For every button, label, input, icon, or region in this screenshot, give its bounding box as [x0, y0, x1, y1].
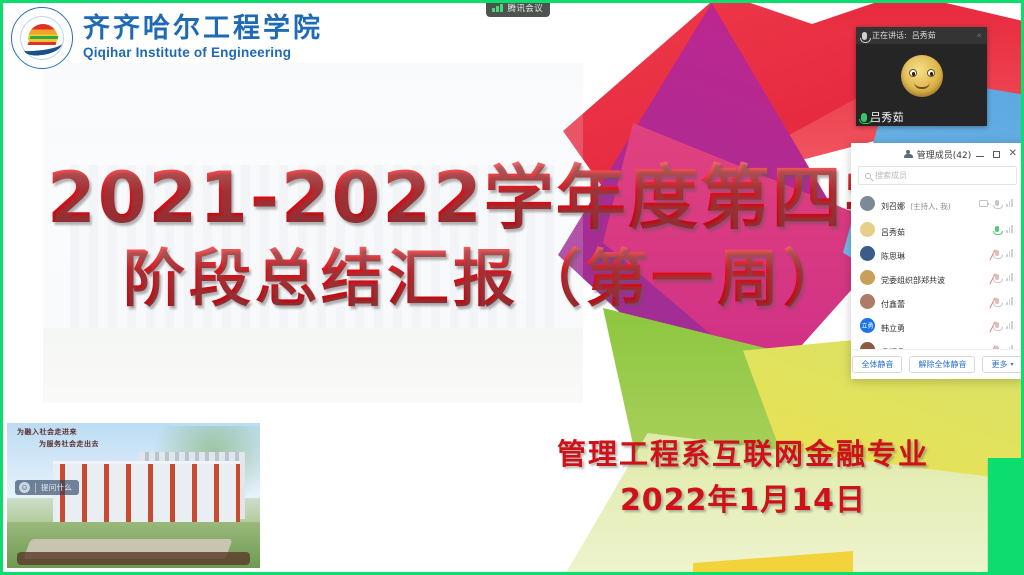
volume-icon: [1006, 273, 1016, 281]
speaking-prefix-label: 正在讲话:: [872, 30, 907, 41]
avatar: [860, 270, 875, 285]
participant-name: 党委组织部郑共波: [881, 276, 945, 285]
chevron-double-icon[interactable]: «: [976, 31, 981, 41]
institution-name-cn: 齐齐哈尔工程学院: [83, 14, 323, 44]
more-button[interactable]: 更多 ▾: [982, 356, 1022, 373]
university-seal-icon: [11, 7, 73, 69]
list-item[interactable]: 立勇 韩立勇: [851, 313, 1024, 337]
microphone-muted-icon[interactable]: [995, 346, 999, 349]
active-speaker-thumbnail[interactable]: 正在讲话: 吕秀茹 « 吕秀茹: [856, 27, 987, 126]
close-icon[interactable]: ✕: [1009, 149, 1017, 159]
slide-subtitle-date: 2022年1月14日: [483, 475, 1003, 519]
volume-icon: [1006, 297, 1016, 305]
active-speaker-header: 正在讲话: 吕秀茹 «: [856, 27, 987, 44]
volume-icon: [1006, 225, 1016, 233]
list-item[interactable]: 党委组织部郑共波: [851, 265, 1024, 289]
list-item[interactable]: 陈思琳: [851, 241, 1024, 265]
campus-badge-label: 提问什么: [41, 482, 72, 493]
participants-list[interactable]: 刘召娜 (主持人, 我) 吕秀茹: [851, 189, 1024, 349]
list-item[interactable]: 付鑫蕾: [851, 289, 1024, 313]
smiley-icon: ☺: [19, 482, 30, 493]
people-icon: [904, 150, 913, 158]
meeting-toolbar-pill[interactable]: 腾讯会议: [486, 0, 550, 17]
search-input[interactable]: 搜索成员: [858, 166, 1017, 185]
screen-share-stage: 齐齐哈尔工程学院 Qiqihar Institute of Engineerin…: [0, 0, 1024, 575]
maximize-icon[interactable]: [993, 151, 1000, 158]
participant-name: 韩立勇: [881, 324, 905, 333]
minimize-icon[interactable]: [976, 156, 984, 157]
institution-logo: 齐齐哈尔工程学院 Qiqihar Institute of Engineerin…: [11, 7, 323, 69]
microphone-on-icon: [861, 113, 867, 122]
microphone-muted-icon[interactable]: [995, 298, 999, 304]
camera-icon[interactable]: [979, 200, 988, 207]
microphone-on-icon[interactable]: [995, 226, 999, 232]
volume-icon: [1006, 249, 1016, 257]
list-item[interactable]: 吕秀茹: [851, 217, 1024, 241]
search-placeholder: 搜索成员: [875, 170, 907, 181]
search-icon: [865, 173, 871, 179]
participant-role: (主持人, 我): [910, 202, 951, 211]
microphone-muted-icon[interactable]: [995, 274, 999, 280]
avatar: [860, 246, 875, 261]
microphone-muted-icon[interactable]: [995, 322, 999, 328]
volume-icon: [1006, 321, 1016, 329]
avatar: [860, 342, 875, 350]
avatar: [860, 294, 875, 309]
unmute-all-button[interactable]: 解除全体静音: [909, 356, 975, 373]
chevron-down-icon: ▾: [1010, 361, 1013, 368]
microphone-muted-icon[interactable]: [995, 250, 999, 256]
emoji-avatar-icon: [901, 55, 943, 97]
campus-motto-line-2: 为服务社会走出去: [17, 439, 99, 451]
participant-name: 刘召娜: [881, 202, 905, 211]
participant-name: 付鑫蕾: [881, 300, 905, 309]
participant-name: 吕秀茹: [881, 228, 905, 237]
microphone-icon[interactable]: [995, 200, 999, 206]
more-button-label: 更多: [991, 359, 1007, 370]
speaking-name-label: 吕秀茹: [912, 30, 936, 41]
campus-motto: 为融入社会走进来 为服务社会走出去: [17, 427, 99, 451]
avatar: [860, 196, 875, 211]
participants-window[interactable]: 管理成员(42) ✕ 搜索成员 刘召娜 (主持人, 我): [851, 143, 1024, 379]
participants-window-title: 管理成员(42): [917, 148, 971, 161]
participants-title-bar[interactable]: 管理成员(42) ✕: [851, 143, 1024, 165]
slide-title-line-2: 阶段总结汇报（第一周）: [3, 243, 903, 314]
signal-bars-icon: [492, 4, 503, 12]
participants-footer: 全体静音 解除全体静音 更多 ▾: [851, 349, 1024, 379]
slide-title-line-1: 2021-2022学年度第四学: [3, 161, 903, 237]
slide-subtitle-department: 管理工程系互联网金融专业: [483, 431, 1003, 473]
slide-subtitle-block: 管理工程系互联网金融专业 2022年1月14日: [483, 431, 1003, 519]
slide-title-block: 2021-2022学年度第四学 阶段总结汇报（第一周）: [3, 161, 903, 314]
list-item[interactable]: 刘召娜 (主持人, 我): [851, 189, 1024, 217]
avatar: 立勇: [860, 318, 875, 333]
active-speaker-footer: 吕秀茹: [856, 108, 987, 126]
list-item[interactable]: 侯颖凡: [851, 337, 1024, 349]
active-speaker-name: 吕秀茹: [870, 109, 904, 125]
active-speaker-video-area: [856, 44, 987, 108]
avatar: [860, 222, 875, 237]
institution-name-en: Qiqihar Institute of Engineering: [83, 44, 323, 62]
mute-all-button[interactable]: 全体静音: [852, 356, 902, 373]
campus-photo-badge: ☺ 提问什么: [15, 480, 79, 495]
campus-photo: 为融入社会走进来 为服务社会走出去 ☺ 提问什么: [7, 423, 260, 568]
participant-name: 陈思琳: [881, 252, 905, 261]
microphone-icon: [862, 32, 867, 40]
meeting-app-label: 腾讯会议: [508, 2, 544, 14]
campus-motto-line-1: 为融入社会走进来: [17, 427, 99, 439]
volume-icon: [1006, 199, 1016, 207]
